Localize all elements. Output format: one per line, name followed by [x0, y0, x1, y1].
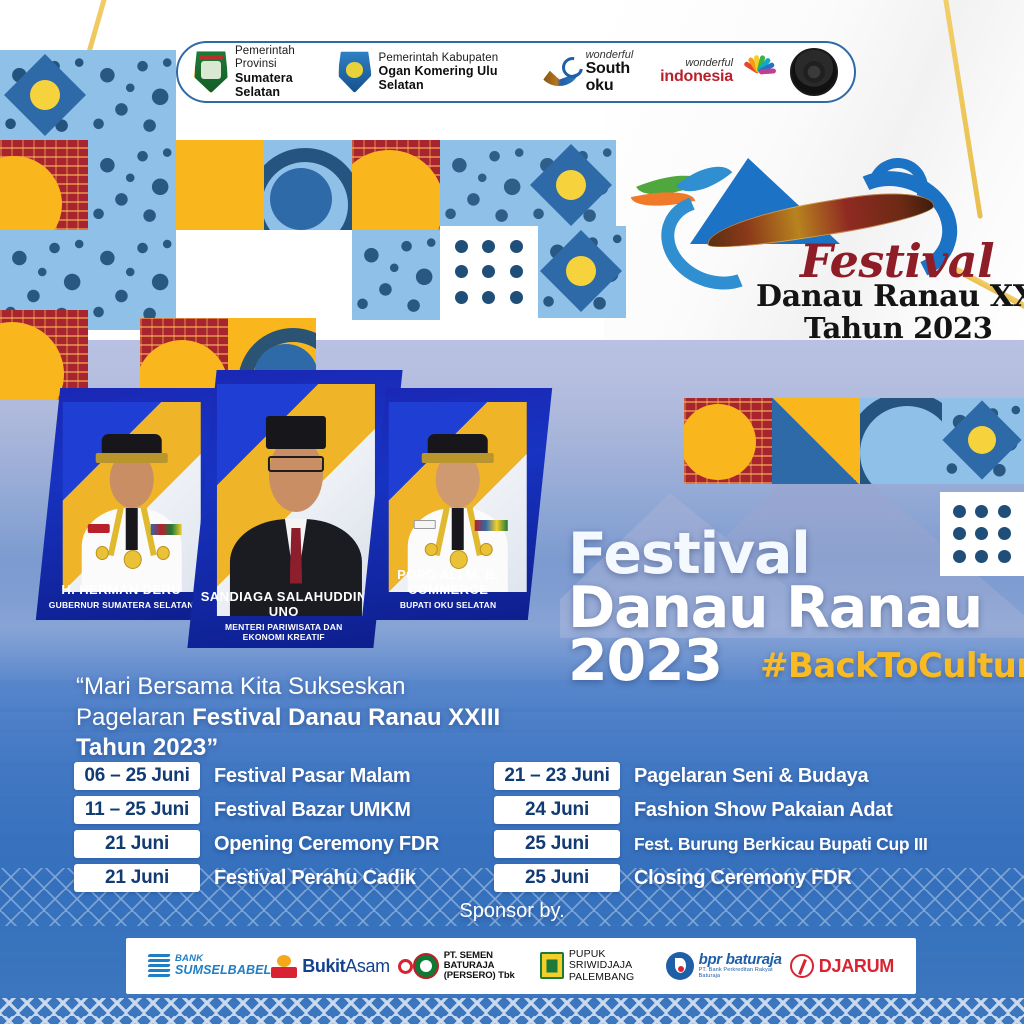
motif-tile-13: [352, 230, 440, 320]
motif-tile-3: [0, 140, 88, 230]
bukit-asam-t2: Asam: [345, 956, 389, 976]
schedule-date-chip: 11 – 25 Juni: [74, 796, 200, 824]
logo-line-danau-ranau: Danau Ranau XXIII: [756, 279, 1024, 314]
schedule-date-chip: 25 Juni: [494, 830, 620, 858]
sponsor-djarum: DJARUM: [790, 954, 894, 978]
bpr-baturaja-mark-icon: [666, 952, 694, 980]
pusri-line1: PUPUK SRIWIDJAJA: [569, 949, 666, 972]
sponsor-bank-sumselbabel: BANK SUMSELBABEL: [148, 953, 271, 979]
motif-tile-7: [352, 140, 440, 230]
sponsor-bukit-asam: BukitAsam: [271, 954, 412, 978]
motif-tile-14: [538, 226, 626, 318]
sponsor-pupuk-sriwidjaja: PUPUK SRIWIDJAJA PALEMBANG: [540, 949, 666, 984]
schedule-event-label: Fashion Show Pakaian Adat: [634, 799, 892, 822]
wonderful-south-oku-logo: wonderful South oku: [537, 50, 651, 94]
quote-line-3: Tahun 2023”: [76, 734, 218, 761]
gov-sumsel-line1: Pemerintah Provinsi: [235, 45, 328, 71]
pusri-line2: PALEMBANG: [569, 972, 666, 984]
bpr-line1: bpr baturaja: [699, 952, 790, 968]
schedule-event-label: Festival Perahu Cadik: [214, 867, 416, 890]
quote-line-2-prefix: Pagelaran: [76, 704, 192, 731]
motif-tile-8: [440, 140, 528, 230]
schedule-row: 25 Juni Fest. Burung Berkicau Bupati Cup…: [494, 830, 964, 858]
crest-sumsel-icon: [194, 51, 228, 93]
gov-sumsel-line2: Sumatera Selatan: [235, 71, 328, 99]
motif-tile-9: [528, 140, 616, 230]
motif-tile-21: [860, 398, 942, 484]
schedule-row: 21 Juni Opening Ceremony FDR: [74, 830, 494, 858]
motif-tile-22: [942, 398, 1024, 484]
schedule-date-chip: 06 – 25 Juni: [74, 762, 200, 790]
sumselbabel-line2: SUMSELBABEL: [175, 964, 271, 977]
portrait-role: BUPATI OKU SELATAN: [365, 600, 531, 610]
semen-baturaja-line1: PT. SEMEN BATURAJA: [444, 951, 540, 971]
djarum-needle-icon: [790, 954, 814, 978]
hashtag-badge: #BackToCulture: [760, 646, 1024, 686]
pusri-shield-icon: [540, 952, 564, 979]
schedule-row: 06 – 25 Juni Festival Pasar Malam: [74, 762, 494, 790]
schedule-row: 11 – 25 Juni Festival Bazar UMKM: [74, 796, 494, 824]
headline-line-2: Danau Ranau: [568, 582, 982, 636]
gov-okus-line2: Ogan Komering Ulu Selatan: [379, 64, 527, 92]
motif-tile-18: [684, 398, 772, 484]
portrait-group: H. HERMAN DERU GUBERNUR SUMATERA SELATAN…: [30, 370, 550, 670]
wonderful-soku-main: South oku: [586, 61, 651, 94]
sponsor-semen-baturaja: PT. SEMEN BATURAJA (PERSERO) Tbk: [413, 951, 540, 981]
schedule-column-left: 06 – 25 Juni Festival Pasar Malam 11 – 2…: [74, 762, 494, 892]
schedule-event-label: Festival Bazar UMKM: [214, 799, 411, 822]
schedule-date-chip: 24 Juni: [494, 796, 620, 824]
semen-baturaja-line2: (PERSERO) Tbk: [444, 971, 540, 981]
quote-block: “Mari Bersama Kita Sukseskan Pagelaran F…: [76, 672, 546, 764]
partner-logo-bar: Pemerintah Provinsi Sumatera Selatan Pem…: [176, 41, 856, 103]
bukit-asam-t1: Bukit: [302, 956, 345, 976]
motif-tile-2: [88, 50, 176, 140]
schedule-event-label: Closing Ceremony FDR: [634, 867, 851, 890]
bpr-line2: PT. Bank Perkreditan Rakyat Baturaja: [699, 968, 790, 980]
portrait-caption: POPO ALI M. B. COMMERCE BUPATI OKU SELAT…: [365, 568, 531, 610]
festival-poster: Pemerintah Provinsi Sumatera Selatan Pem…: [0, 0, 1024, 1024]
schedule-event-label: Pagelaran Seni & Budaya: [634, 765, 868, 788]
portrait-photo: [63, 402, 201, 592]
portrait-caption: H. HERMAN DERU GUBERNUR SUMATERA SELATAN: [38, 583, 204, 610]
quote-line-1: “Mari Bersama Kita Sukseskan: [76, 673, 405, 700]
main-headline: Festival Danau Ranau 2023 #BackToCulture: [568, 528, 982, 689]
bukit-asam-mark-icon: [271, 954, 297, 978]
sponsor-label: Sponsor by.: [0, 900, 1024, 923]
garuda-emblem-icon: [790, 48, 838, 96]
portrait-photo: [389, 402, 527, 592]
portrait-role: GUBERNUR SUMATERA SELATAN: [38, 600, 204, 610]
portrait-name: POPO ALI M. B. COMMERCE: [365, 568, 531, 598]
portrait-caption: SANDIAGA SALAHUDDIN UNO MENTERI PARIWISA…: [191, 590, 377, 642]
sponsor-bpr-baturaja: bpr baturaja PT. Bank Perkreditan Rakyat…: [666, 952, 790, 980]
crest-okus-icon: [338, 51, 372, 93]
schedule-date-chip: 21 – 23 Juni: [494, 762, 620, 790]
schedule-date-chip: 21 Juni: [74, 830, 200, 858]
schedule-row: 21 – 23 Juni Pagelaran Seni & Budaya: [494, 762, 964, 790]
gov-okus-line1: Pemerintah Kabupaten: [379, 52, 527, 65]
schedule-date-chip: 25 Juni: [494, 864, 620, 892]
motif-tile-4: [88, 140, 176, 230]
gov-partner-sumsel: Pemerintah Provinsi Sumatera Selatan: [194, 45, 328, 99]
semen-baturaja-seal-icon: [413, 953, 439, 979]
motif-tile-6: [264, 140, 352, 230]
portrait-name: SANDIAGA SALAHUDDIN UNO: [191, 590, 377, 620]
portrait-role: MENTERI PARIWISATA DAN EKONOMI KREATIF: [191, 622, 377, 642]
djarum-label: DJARUM: [819, 956, 894, 977]
bukit-asam-dot-icon: [398, 959, 413, 974]
wonderful-swoosh-icon: [537, 55, 581, 89]
portrait-name: H. HERMAN DERU: [38, 583, 204, 598]
indonesia-burst-icon: [738, 54, 780, 90]
schedule-column-right: 21 – 23 Juni Pagelaran Seni & Budaya 24 …: [494, 762, 964, 892]
dot-grid-upper: [440, 226, 538, 318]
motif-tile-1: [0, 50, 88, 140]
portrait-card-popo-ali: POPO ALI M. B. COMMERCE BUPATI OKU SELAT…: [362, 388, 552, 620]
motif-tile-5: [176, 140, 264, 230]
schedule-row: 25 Juni Closing Ceremony FDR: [494, 864, 964, 892]
yellow-dot: [30, 80, 60, 110]
festival-logo: Festival Danau Ranau XXIII Tahun 2023: [620, 150, 1020, 350]
motif-tile-12: [88, 230, 176, 330]
headline-line-1: Festival: [568, 528, 982, 582]
sponsor-logo-bar: BANK SUMSELBABEL BukitAsam PT. SEMEN BAT…: [126, 938, 916, 994]
schedule-event-label: Festival Pasar Malam: [214, 765, 410, 788]
quote-line-2-bold: Festival Danau Ranau XXIII: [192, 704, 500, 731]
motif-tile-20: [772, 398, 860, 484]
gov-partner-okus: Pemerintah Kabupaten Ogan Komering Ulu S…: [338, 51, 527, 93]
wonderful-indonesia-logo: wonderful indonesia: [660, 54, 780, 90]
schedule-event-label: Opening Ceremony FDR: [214, 833, 439, 856]
wonderful-indo-main: indonesia: [660, 69, 733, 85]
sumselbabel-waves-icon: [148, 953, 170, 979]
schedule-event-label: Fest. Burung Berkicau Bupati Cup III: [634, 834, 928, 855]
schedule-section: 06 – 25 Juni Festival Pasar Malam 11 – 2…: [74, 762, 964, 892]
schedule-row: 21 Juni Festival Perahu Cadik: [74, 864, 494, 892]
portrait-photo: [217, 384, 375, 616]
songket-band-bottom: [0, 998, 1024, 1024]
schedule-date-chip: 21 Juni: [74, 864, 200, 892]
schedule-row: 24 Juni Fashion Show Pakaian Adat: [494, 796, 964, 824]
logo-line-tahun: Tahun 2023: [804, 311, 993, 345]
